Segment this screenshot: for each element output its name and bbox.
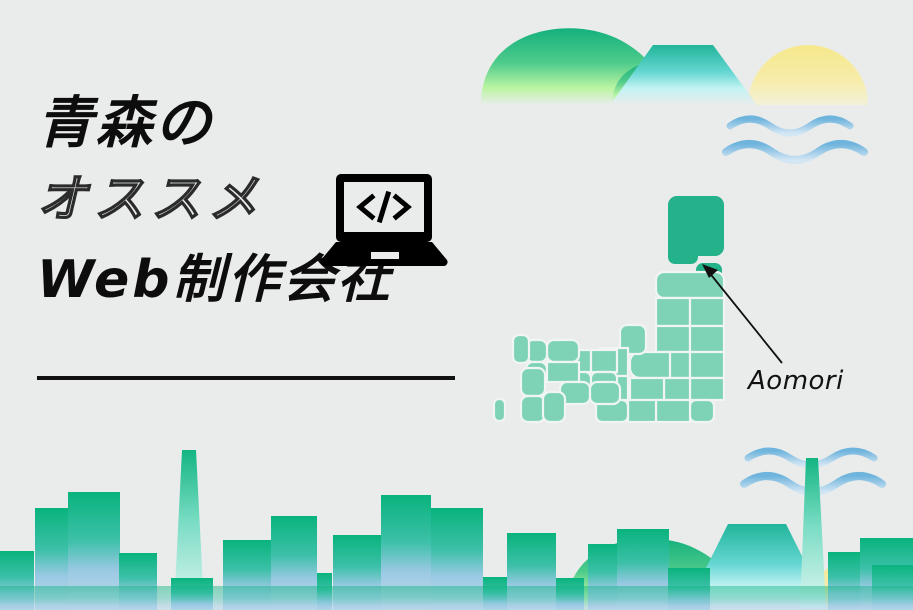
sun-semicircle [806,557,913,610]
hill-small-icon [612,62,713,105]
banner-canvas: 青森の オススメ Web制作会社 Aomori [0,0,913,610]
map-prefectures [494,196,724,422]
wave-line-icon [726,144,864,160]
mount-fuji-icon [684,524,830,610]
headline-divider [37,376,455,380]
skyline-buildings [0,450,913,610]
wave-line-icon [730,119,850,133]
aomori-callout-label: Aomori [748,366,844,396]
laptop-code-icon [318,172,450,266]
sun-semicircle [748,45,868,105]
hill-large-icon [566,539,743,610]
map-region-aomori [696,263,722,283]
hill-large-icon [481,28,668,105]
map-region-hokkaido [668,196,724,264]
mount-fuji-icon [610,45,757,105]
wave-line-icon [744,476,882,492]
hill-small-icon [690,571,787,610]
headline-line-1: 青森の [37,96,467,152]
wave-line-icon [748,451,874,465]
